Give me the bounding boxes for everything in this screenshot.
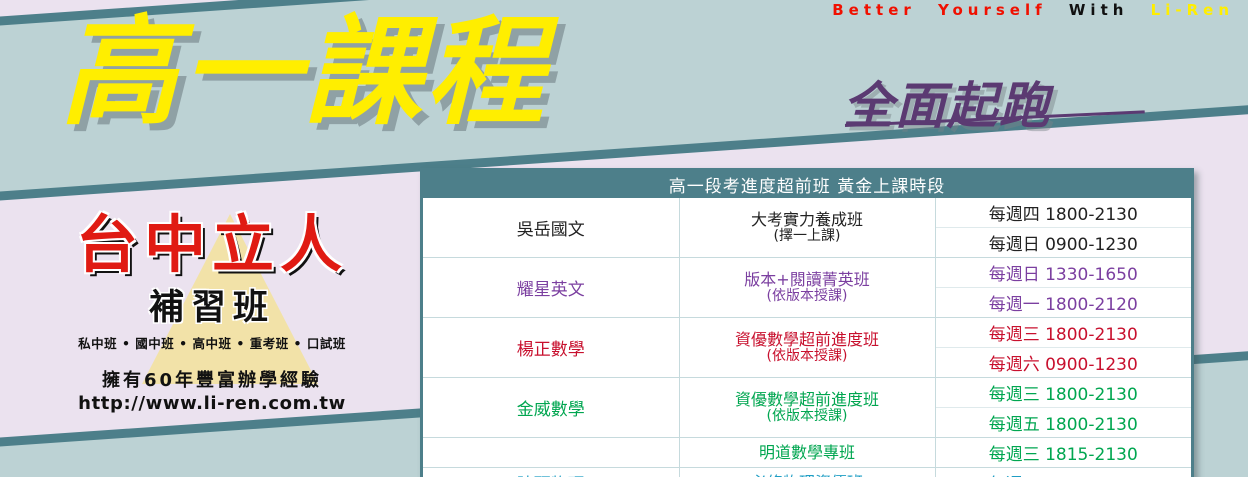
- cell-time: 每週五 1800-2130: [935, 408, 1191, 438]
- schedule-table-title: 高一段考進度超前班 黃金上課時段: [423, 171, 1191, 198]
- cell-course: 必修物理資優班: [679, 468, 935, 477]
- cell-time: 每週日 1330-1650: [935, 258, 1191, 288]
- table-row: 耀星英文版本+閱讀菁英班(依版本授課)每週日 1330-1650: [423, 258, 1191, 288]
- schedule-table-body: 吳岳國文大考實力養成班(擇一上課)每週四 1800-2130每週日 0900-1…: [423, 198, 1191, 477]
- cell-teacher: 楊正數學: [423, 318, 679, 378]
- cell-course: 資優數學超前進度班(依版本授課): [679, 378, 935, 438]
- cell-time: 每週三 1800-2130: [935, 378, 1191, 408]
- tagline-word-3: With: [1063, 1, 1135, 19]
- table-row: 吳岳國文大考實力養成班(擇一上課)每週四 1800-2130: [423, 198, 1191, 228]
- tagline-word-2: Yourself: [932, 1, 1053, 19]
- schedule-table: 高一段考進度超前班 黃金上課時段 吳岳國文大考實力養成班(擇一上課)每週四 18…: [423, 171, 1191, 477]
- course-note: (依版本授課): [680, 409, 935, 425]
- page-title: 高一課程: [60, 6, 548, 138]
- tagline-word-1: Better: [826, 1, 922, 19]
- course-name: 明道數學專班: [680, 444, 935, 462]
- table-row: 楊正數學資優數學超前進度班(依版本授課)每週三 1800-2130: [423, 318, 1191, 348]
- cell-teacher: 金威數學: [423, 378, 679, 438]
- course-name: 資優數學超前進度班: [680, 331, 935, 349]
- cell-time: 每週三 1815-2130: [935, 438, 1191, 468]
- brand-logo: 台中立人 補習班 私中班 • 國中班 • 高中班 • 重考班 • 口試班 擁有6…: [22, 212, 402, 414]
- schedule-table-container: 高一段考進度超前班 黃金上課時段 吳岳國文大考實力養成班(擇一上課)每週四 18…: [420, 168, 1194, 477]
- logo-experience-text: 擁有60年豐富辦學經驗: [22, 366, 402, 392]
- cell-teacher: 陳碩物理: [423, 468, 679, 477]
- course-name: 版本+閱讀菁英班: [680, 271, 935, 289]
- cell-course: 明道數學專班: [679, 438, 935, 468]
- cell-course: 版本+閱讀菁英班(依版本授課): [679, 258, 935, 318]
- cell-time: 每週三 1800-2130: [935, 318, 1191, 348]
- course-name: 資優數學超前進度班: [680, 391, 935, 409]
- logo-brand-name: 台中立人: [22, 212, 402, 277]
- cell-time: 每週二 1800-2120: [935, 468, 1191, 477]
- logo-brand-kind: 補習班: [22, 279, 402, 330]
- cell-teacher: 吳岳國文: [423, 198, 679, 258]
- logo-website-url[interactable]: http://www.li-ren.com.tw: [22, 393, 402, 414]
- cell-time: 每週日 0900-1230: [935, 228, 1191, 258]
- table-row: 陳碩物理必修物理資優班每週二 1800-2120: [423, 468, 1191, 477]
- cell-teacher: 耀星英文: [423, 258, 679, 318]
- table-row: 明道數學專班每週三 1815-2130: [423, 438, 1191, 468]
- poster-canvas: Better Yourself With Li-Ren 高一課程 全面起跑 台中…: [0, 0, 1248, 477]
- cell-time: 每週六 0900-1230: [935, 348, 1191, 378]
- course-name: 必修物理資優班: [680, 474, 935, 477]
- cell-time: 每週四 1800-2130: [935, 198, 1191, 228]
- course-note: (依版本授課): [680, 349, 935, 365]
- course-note: (依版本授課): [680, 289, 935, 305]
- cell-course: 資優數學超前進度班(依版本授課): [679, 318, 935, 378]
- tagline-word-4: Li-Ren: [1145, 1, 1240, 19]
- table-header-row: 高一段考進度超前班 黃金上課時段: [423, 171, 1191, 198]
- table-row: 金威數學資優數學超前進度班(依版本授課)每週三 1800-2130: [423, 378, 1191, 408]
- logo-class-list: 私中班 • 國中班 • 高中班 • 重考班 • 口試班: [22, 333, 402, 352]
- cell-teacher: [423, 438, 679, 468]
- course-name: 大考實力養成班: [680, 211, 935, 229]
- cell-course: 大考實力養成班(擇一上課): [679, 198, 935, 258]
- page-subtitle: 全面起跑: [843, 66, 1051, 138]
- cell-time: 每週一 1800-2120: [935, 288, 1191, 318]
- course-note: (擇一上課): [680, 229, 935, 245]
